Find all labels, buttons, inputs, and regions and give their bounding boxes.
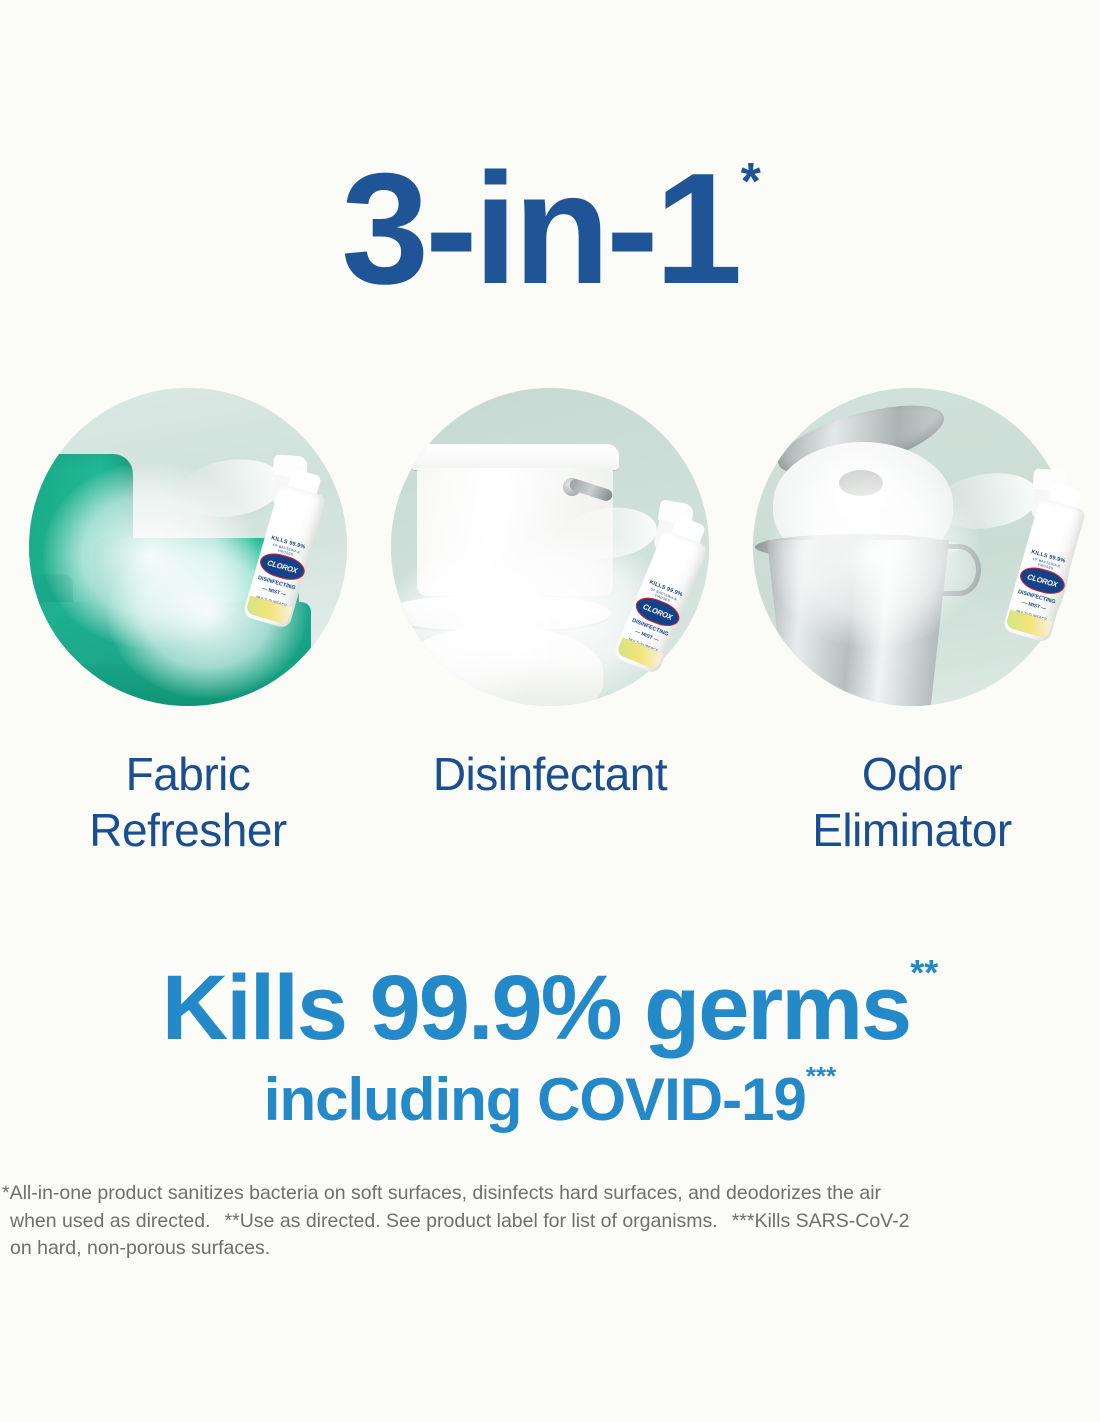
footnotes: *All-in-one product sanitizes bacteria o… xyxy=(2,1180,1064,1263)
feature-label-disinfectant: Disinfectant xyxy=(433,746,667,802)
toilet-bowl xyxy=(397,626,603,706)
trash-can-body xyxy=(759,540,957,706)
footnote-line-3: on hard, non-porous surfaces. xyxy=(2,1235,1064,1263)
claim-subheadline: including COVID-19*** xyxy=(0,1070,1100,1130)
headline-text: 3-in-1 xyxy=(341,141,738,317)
feature-odor-eliminator: KILLS 99.9%OF BACTERIA & VIRUSES CLOROX … xyxy=(753,388,1071,858)
feature-image-odor-eliminator: KILLS 99.9%OF BACTERIA & VIRUSES CLOROX … xyxy=(753,388,1071,706)
circle-mask xyxy=(753,388,1071,706)
feature-image-fabric-refresher: KILLS 99.9%OF BACTERIA & VIRUSES CLOROX … xyxy=(29,388,347,706)
feature-label-odor-eliminator: Odor Eliminator xyxy=(812,746,1012,858)
toilet-seat xyxy=(391,596,611,630)
feature-image-disinfectant: KILLS 99.9%OF BACTERIA & VIRUSES CLOROX … xyxy=(391,388,709,706)
sofa-base xyxy=(29,664,311,706)
germ-kill-claim: Kills 99.9% germs** including COVID-19**… xyxy=(0,962,1100,1130)
feature-label-fabric-refresher: Fabric Refresher xyxy=(89,746,286,858)
claim-footnote-marker: ** xyxy=(910,952,938,993)
footnote-line-2: when used as directed.**Use as directed.… xyxy=(2,1208,1064,1236)
feature-list: KILLS 99.9%OF BACTERIA & VIRUSES CLOROX … xyxy=(0,388,1100,858)
toilet-tank-lid xyxy=(411,444,619,470)
garbage-bag-knot xyxy=(839,470,883,496)
claim-sub-footnote-marker: *** xyxy=(806,1061,836,1091)
footnote-line-1: *All-in-one product sanitizes bacteria o… xyxy=(2,1180,1064,1208)
feature-disinfectant: KILLS 99.9%OF BACTERIA & VIRUSES CLOROX … xyxy=(391,388,709,858)
claim-headline: Kills 99.9% germs** xyxy=(0,962,1100,1054)
feature-fabric-refresher: KILLS 99.9%OF BACTERIA & VIRUSES CLOROX … xyxy=(29,388,347,858)
trash-can-scene xyxy=(753,388,1071,706)
headline-footnote-marker: * xyxy=(741,153,761,211)
page-title: 3-in-1* xyxy=(0,150,1100,308)
